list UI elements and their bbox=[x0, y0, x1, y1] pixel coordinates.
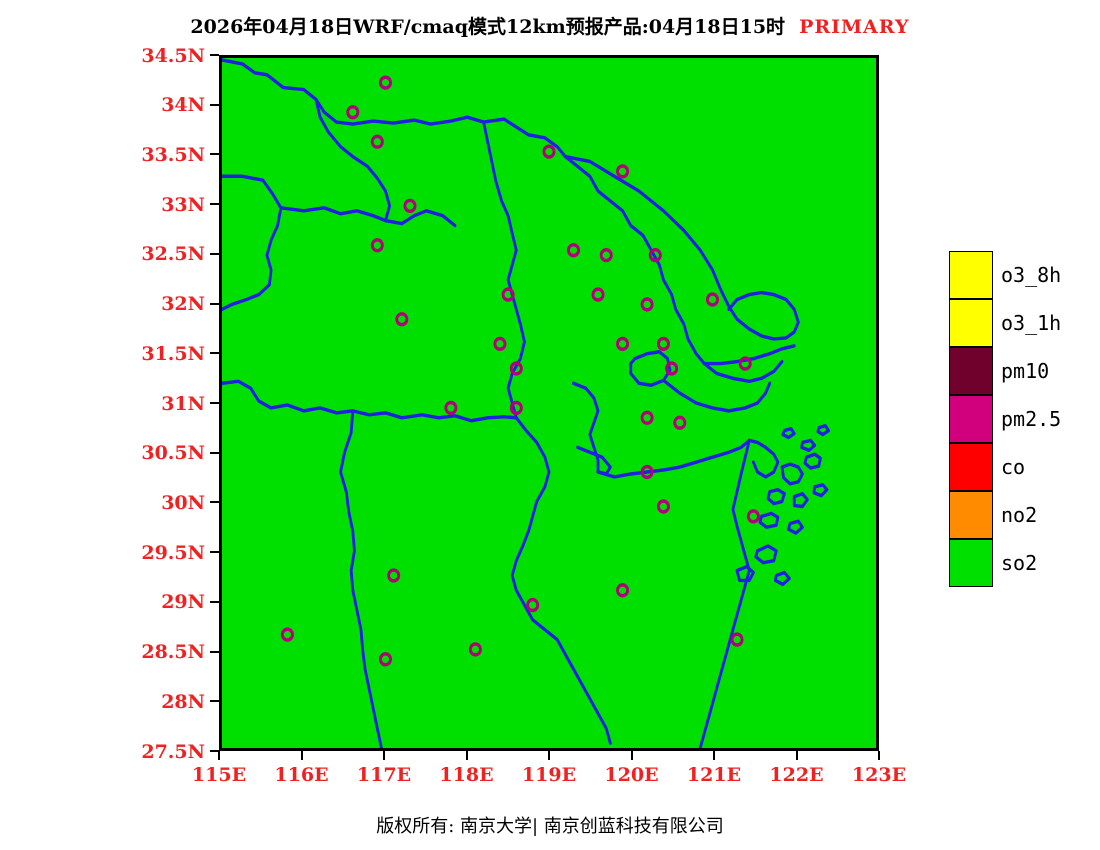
y-axis-tick-mark bbox=[210, 651, 219, 653]
legend-item-no2[interactable]: no2 bbox=[949, 491, 1094, 539]
y-axis-tick-mark bbox=[210, 253, 219, 255]
legend-item-o3-1h[interactable]: o3_1h bbox=[949, 299, 1094, 347]
pollutant-legend[interactable]: o3_8ho3_1hpm10pm2.5cono2so2 bbox=[949, 251, 1094, 587]
x-axis-tick-label: 115E bbox=[192, 766, 246, 785]
y-axis-tick-label: 29N bbox=[161, 593, 205, 612]
y-axis-tick-mark bbox=[210, 352, 219, 354]
x-axis-tick-label: 123E bbox=[852, 766, 906, 785]
legend-label: pm2.5 bbox=[1001, 409, 1061, 429]
x-axis-tick-mark bbox=[713, 751, 715, 760]
map-plot-area[interactable] bbox=[219, 55, 879, 751]
y-axis-tick-mark bbox=[210, 601, 219, 603]
x-axis-tick-mark bbox=[383, 751, 385, 760]
x-axis-tick-label: 121E bbox=[687, 766, 741, 785]
x-axis-tick-label: 119E bbox=[522, 766, 576, 785]
y-axis-tick-label: 33N bbox=[161, 196, 205, 215]
y-axis-tick-mark bbox=[210, 551, 219, 553]
y-axis-tick-mark bbox=[210, 402, 219, 404]
y-axis-tick-mark bbox=[210, 54, 219, 56]
legend-color-swatch bbox=[949, 539, 993, 587]
y-axis-tick-label: 31N bbox=[161, 395, 205, 414]
map-background bbox=[222, 58, 876, 748]
legend-item-pm10[interactable]: pm10 bbox=[949, 347, 1094, 395]
x-axis-tick-mark bbox=[631, 751, 633, 760]
y-axis-tick-label: 33.5N bbox=[141, 146, 205, 165]
x-axis-tick-label: 120E bbox=[604, 766, 658, 785]
y-axis-tick-label: 29.5N bbox=[141, 544, 205, 563]
legend-item-co[interactable]: co bbox=[949, 443, 1094, 491]
x-axis-tick-label: 117E bbox=[357, 766, 411, 785]
x-axis-tick-mark bbox=[548, 751, 550, 760]
legend-item-o3-8h[interactable]: o3_8h bbox=[949, 251, 1094, 299]
legend-label: o3_8h bbox=[1001, 265, 1061, 285]
legend-item-pm2-5[interactable]: pm2.5 bbox=[949, 395, 1094, 443]
legend-label: so2 bbox=[1001, 553, 1037, 573]
y-axis-tick-label: 27.5N bbox=[141, 743, 205, 762]
y-axis-tick-mark bbox=[210, 452, 219, 454]
y-axis-tick-label: 30N bbox=[161, 494, 205, 513]
x-axis-tick-mark bbox=[218, 751, 220, 760]
y-axis-tick-mark bbox=[210, 153, 219, 155]
y-axis-tick-label: 34N bbox=[161, 96, 205, 115]
y-axis-tick-mark bbox=[210, 203, 219, 205]
legend-label: o3_1h bbox=[1001, 313, 1061, 333]
legend-label: no2 bbox=[1001, 505, 1037, 525]
primary-badge: PRIMARY bbox=[799, 16, 910, 38]
x-axis-tick-mark bbox=[796, 751, 798, 760]
y-axis-tick-label: 34.5N bbox=[141, 47, 205, 66]
y-axis-tick-label: 31.5N bbox=[141, 345, 205, 364]
x-axis-tick-mark bbox=[301, 751, 303, 760]
legend-color-swatch bbox=[949, 443, 993, 491]
x-axis-tick-label: 118E bbox=[439, 766, 493, 785]
legend-color-swatch bbox=[949, 251, 993, 299]
chart-title-main: 2026年04月18日WRF/cmaq模式12km预报产品:04月18日15时 bbox=[190, 16, 785, 38]
legend-color-swatch bbox=[949, 347, 993, 395]
chart-title: 2026年04月18日WRF/cmaq模式12km预报产品:04月18日15时P… bbox=[0, 12, 1100, 39]
legend-label: pm10 bbox=[1001, 361, 1049, 381]
y-axis-tick-label: 30.5N bbox=[141, 444, 205, 463]
x-axis-tick-label: 122E bbox=[769, 766, 823, 785]
y-axis-tick-mark bbox=[210, 501, 219, 503]
legend-color-swatch bbox=[949, 395, 993, 443]
x-axis-tick-label: 116E bbox=[274, 766, 328, 785]
y-axis-tick-mark bbox=[210, 104, 219, 106]
y-axis-tick-label: 28.5N bbox=[141, 643, 205, 662]
legend-label: co bbox=[1001, 457, 1025, 477]
x-axis-tick-mark bbox=[878, 751, 880, 760]
legend-color-swatch bbox=[949, 299, 993, 347]
map-canvas bbox=[222, 58, 876, 748]
x-axis-tick-mark bbox=[466, 751, 468, 760]
y-axis-tick-label: 28N bbox=[161, 693, 205, 712]
y-axis-tick-label: 32.5N bbox=[141, 245, 205, 264]
copyright-footer: 版权所有: 南京大学| 南京创蓝科技有限公司 bbox=[0, 812, 1100, 838]
y-axis-tick-mark bbox=[210, 700, 219, 702]
legend-item-so2[interactable]: so2 bbox=[949, 539, 1094, 587]
legend-color-swatch bbox=[949, 491, 993, 539]
y-axis-tick-mark bbox=[210, 303, 219, 305]
y-axis-tick-label: 32N bbox=[161, 295, 205, 314]
